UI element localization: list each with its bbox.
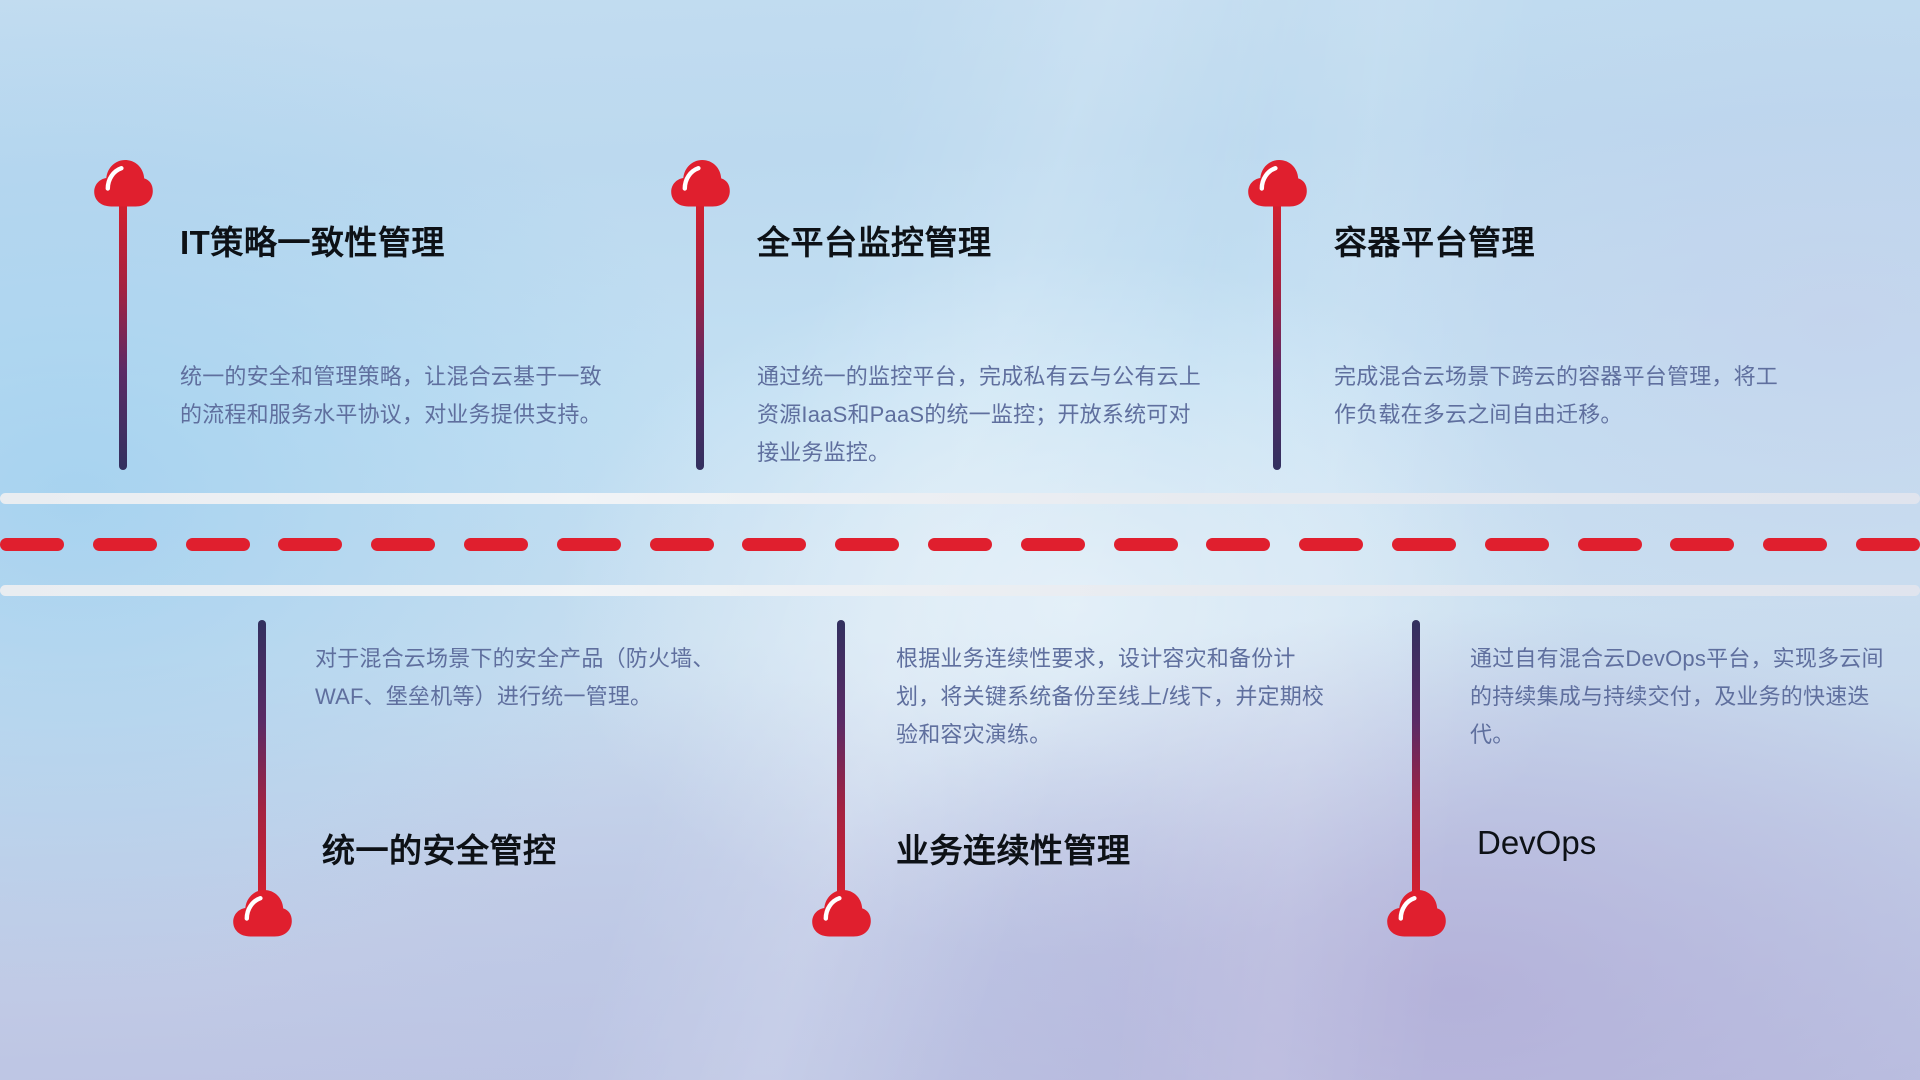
marker-description-2: 通过统一的监控平台，完成私有云与公有云上资源IaaS和PaaS的统一监控；开放系… — [757, 358, 1207, 472]
road-dash — [1299, 538, 1363, 551]
road-dash — [1206, 538, 1270, 551]
road-edge-bottom — [0, 585, 1920, 596]
marker-description-4: 对于混合云场景下的安全产品（防火墙、WAF、堡垒机等）进行统一管理。 — [315, 640, 735, 716]
marker-pin-2 — [696, 195, 704, 470]
cloud-pin-icon — [230, 888, 294, 938]
marker-description-3: 完成混合云场景下跨云的容器平台管理，将工作负载在多云之间自由迁移。 — [1334, 358, 1784, 434]
road-dash — [186, 538, 250, 551]
road-center-dashed-line — [0, 538, 1920, 551]
road-dash — [1485, 538, 1549, 551]
road-dash — [835, 538, 899, 551]
cloud-pin-icon — [1384, 888, 1448, 938]
marker-title-2: 全平台监控管理 — [757, 216, 992, 264]
cloud-pin-icon — [668, 158, 732, 208]
marker-title-3: 容器平台管理 — [1334, 216, 1535, 264]
road-dash — [1114, 538, 1178, 551]
marker-title-1: IT策略一致性管理 — [180, 216, 445, 264]
marker-title-4: 统一的安全管控 — [322, 824, 557, 872]
marker-pin-1 — [119, 195, 127, 470]
infographic-canvas: IT策略一致性管理 统一的安全和管理策略，让混合云基于一致的流程和服务水平协议，… — [0, 0, 1920, 1080]
road-dash — [650, 538, 714, 551]
road-dash — [1856, 538, 1920, 551]
cloud-pin-icon — [809, 888, 873, 938]
road-dash — [928, 538, 992, 551]
cloud-pin-icon — [1245, 158, 1309, 208]
marker-description-5: 根据业务连续性要求，设计容灾和备份计划，将关键系统备份至线上/线下，并定期校验和… — [896, 640, 1332, 754]
road-edge-top — [0, 493, 1920, 504]
road-dash — [742, 538, 806, 551]
road-dash — [0, 538, 64, 551]
marker-title-5: 业务连续性管理 — [896, 824, 1131, 872]
road-dash — [1763, 538, 1827, 551]
marker-pin-5 — [837, 620, 845, 905]
road-dash — [278, 538, 342, 551]
marker-description-1: 统一的安全和管理策略，让混合云基于一致的流程和服务水平协议，对业务提供支持。 — [180, 358, 612, 434]
road-dash — [1578, 538, 1642, 551]
marker-pin-4 — [258, 620, 266, 905]
cloud-pin-icon — [91, 158, 155, 208]
road-dash — [1392, 538, 1456, 551]
road-dash — [371, 538, 435, 551]
road-dash — [1021, 538, 1085, 551]
marker-description-6: 通过自有混合云DevOps平台，实现多云间的持续集成与持续交付，及业务的快速迭代… — [1470, 640, 1890, 754]
road-dash — [93, 538, 157, 551]
road-dash — [557, 538, 621, 551]
road-dash — [1670, 538, 1734, 551]
marker-pin-6 — [1412, 620, 1420, 905]
marker-pin-3 — [1273, 195, 1281, 470]
marker-title-6: DevOps — [1477, 824, 1596, 862]
road-dash — [464, 538, 528, 551]
